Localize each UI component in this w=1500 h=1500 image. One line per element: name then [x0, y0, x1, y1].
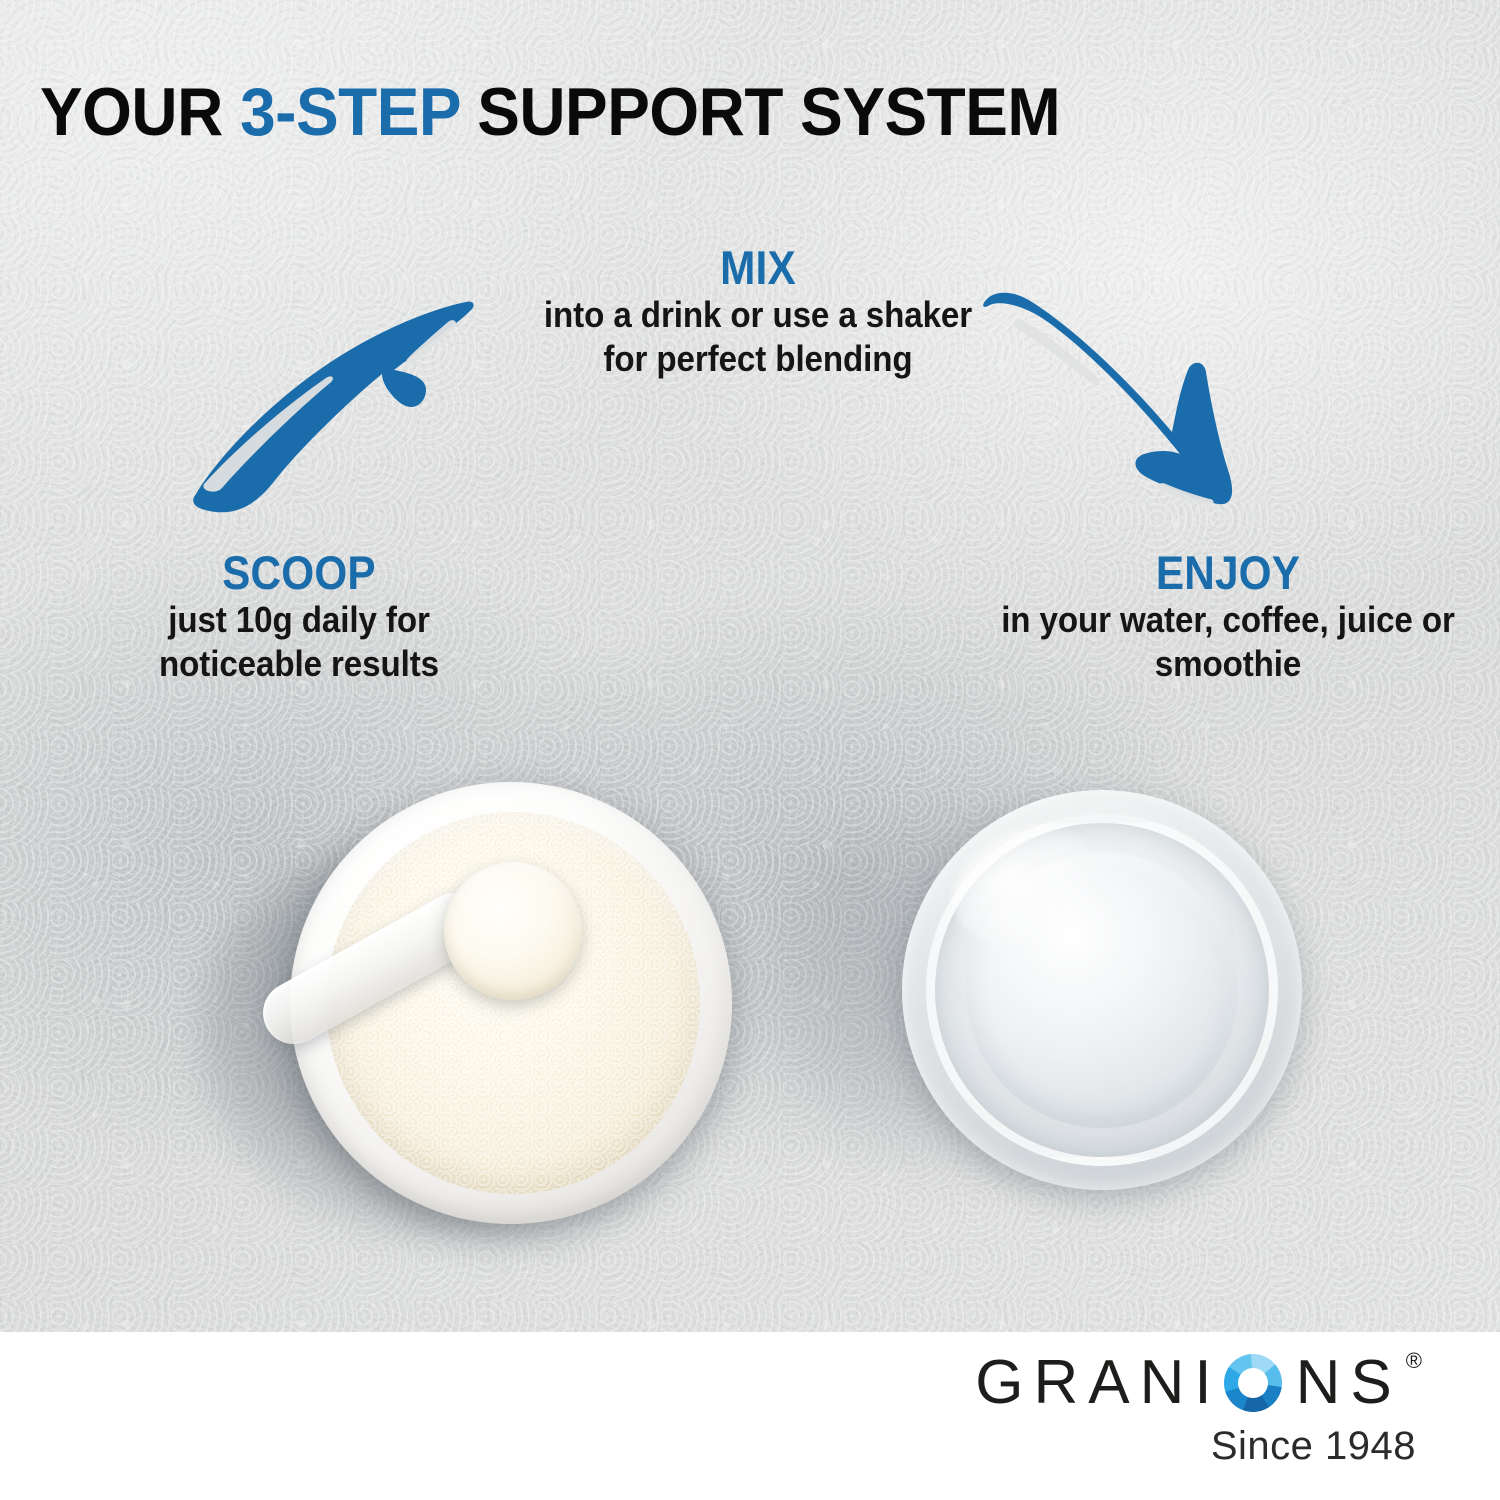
- infographic-poster: YOUR 3-STEP SUPPORT SYSTEM MIX into a dr…: [0, 0, 1500, 1500]
- step-scoop-title: SCOOP: [88, 548, 511, 598]
- brand-logo: GRANINS® Since 1948: [975, 1352, 1422, 1469]
- page-title-part2: SUPPORT SYSTEM: [460, 74, 1060, 150]
- step-mix: MIX into a drink or use a shaker for per…: [478, 243, 1038, 381]
- footer-bar: GRANINS® Since 1948: [0, 1332, 1500, 1500]
- arrow-scoop-to-mix-icon: [180, 278, 490, 508]
- scoop-cup: [444, 862, 582, 1000]
- step-mix-desc-line2: for perfect blending: [500, 337, 1015, 381]
- granions-ring-icon: [1224, 1354, 1282, 1412]
- photo-background: YOUR 3-STEP SUPPORT SYSTEM MIX into a dr…: [0, 0, 1500, 1332]
- step-enjoy-title: ENJOY: [994, 548, 1462, 598]
- step-mix-desc-line1: into a drink or use a shaker: [500, 293, 1015, 337]
- step-enjoy-desc-line1: in your water, coffee, juice or: [989, 598, 1467, 642]
- step-enjoy-desc-line2: smoothie: [989, 642, 1467, 686]
- brand-wordmark: GRANINS®: [975, 1352, 1422, 1414]
- page-title-part1: YOUR: [40, 74, 240, 150]
- step-scoop-desc-line1: just 10g daily for: [83, 598, 515, 642]
- step-enjoy: ENJOY in your water, coffee, juice or sm…: [968, 548, 1488, 686]
- step-mix-title: MIX: [506, 243, 1010, 293]
- page-title-accent: 3-STEP: [240, 74, 460, 150]
- step-scoop-desc-line2: noticeable results: [83, 642, 515, 686]
- brand-tagline: Since 1948: [975, 1424, 1416, 1469]
- page-title: YOUR 3-STEP SUPPORT SYSTEM: [40, 78, 1060, 146]
- registered-trademark-symbol: ®: [1406, 1350, 1422, 1372]
- brand-letters-after-ring: NS: [1296, 1352, 1402, 1414]
- brand-letters-before-ring: GRANI: [975, 1352, 1221, 1414]
- step-scoop: SCOOP just 10g daily for noticeable resu…: [64, 548, 534, 686]
